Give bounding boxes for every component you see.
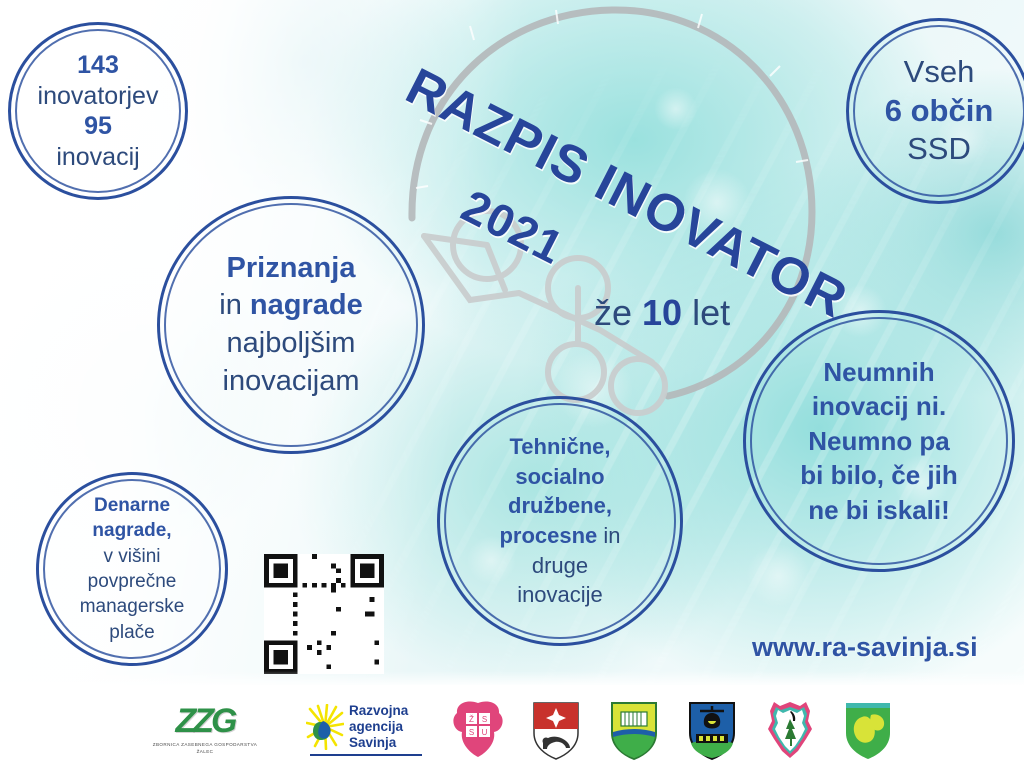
slogan-line-2: inovacij ni. — [812, 389, 946, 424]
types-line-5: druge — [532, 551, 588, 581]
prize-line-5: managerske — [80, 594, 185, 619]
awards-line-3: najboljšim — [227, 325, 356, 363]
ssd-line-1: Vseh — [904, 53, 975, 92]
zzg-logo: ZZG ZBORNICA ZASEBNEGA GOSPODARSTVA ŽALE… — [130, 704, 280, 756]
types-line-4-bold: procesne — [499, 523, 597, 548]
svg-text:S: S — [469, 728, 474, 737]
zzg-logo-mark: ZZG — [176, 704, 235, 738]
prize-line-2: nagrade, — [92, 518, 171, 543]
zzg-subtitle-line-1: ZBORNICA ZASEBNEGA GOSPODARSTVA — [153, 742, 257, 749]
anniversary-number: 10 — [642, 292, 682, 333]
ras-line-1: Razvojna — [349, 703, 408, 719]
svg-text:S: S — [482, 715, 487, 724]
sun-droplet-icon — [306, 704, 344, 750]
types-line-1: Tehnične, — [509, 432, 610, 462]
awards-line-2-regular: in — [219, 289, 250, 321]
awards-line-2: in nagrade — [219, 287, 362, 325]
prize-money-bubble: Denarne nagrade, v višini povprečne mana… — [36, 472, 228, 666]
stats-line-1: 143 — [77, 50, 119, 81]
coat-of-arms-2 — [530, 699, 582, 761]
coat-of-arms-6 — [842, 699, 894, 761]
slogan-bubble: Neumnih inovacij ni. Neumno pa bi bilo, … — [743, 310, 1015, 572]
ras-line-3: Savinja — [349, 735, 408, 751]
zzg-subtitle-line-2: ŽALEC — [153, 749, 257, 756]
stats-line-2: inovatorjev — [38, 81, 159, 112]
ras-underline — [310, 754, 422, 756]
partner-logo-strip: ZZG ZBORNICA ZASEBNEGA GOSPODARSTVA ŽALE… — [0, 685, 1024, 778]
title-anniversary: že 10 let — [594, 292, 730, 334]
slogan-line-3: Neumno pa — [808, 424, 950, 459]
website-url[interactable]: www.ra-savinja.si — [752, 632, 978, 663]
anniversary-suffix: let — [682, 292, 730, 333]
types-line-4-regular: in — [597, 523, 620, 548]
stats-line-3: 95 — [84, 111, 112, 142]
types-line-4: procesne in — [499, 521, 620, 551]
coat-of-arms-4 — [686, 699, 738, 761]
types-line-2: socialno — [515, 462, 604, 492]
municipalities-bubble: Vseh 6 občin SSD — [846, 18, 1024, 204]
razvojna-agencija-savinja-logo: Razvojna agencija Savinja — [306, 703, 426, 756]
prize-line-4: povprečne — [88, 569, 177, 594]
svg-text:Ž: Ž — [469, 715, 474, 724]
ssd-line-3: SSD — [907, 130, 971, 169]
stats-line-4: inovacij — [56, 142, 139, 173]
awards-line-4: inovacijam — [223, 363, 360, 401]
prize-line-3: v višini — [103, 544, 160, 569]
coat-of-arms-1: Ž S S U — [452, 699, 504, 761]
poster-canvas: RAZPIS INOVATOR 2021 že 10 let 143 inova… — [0, 0, 1024, 778]
prize-line-6: plače — [109, 620, 154, 645]
types-line-3: družbene, — [508, 491, 612, 521]
slogan-line-4: bi bilo, če jih — [800, 458, 957, 493]
qr-code-image — [264, 554, 384, 674]
awards-line-1: Priznanja — [227, 250, 356, 288]
slogan-line-1: Neumnih — [823, 355, 934, 390]
anniversary-prefix: že — [594, 292, 642, 333]
stats-bubble: 143 inovatorjev 95 inovacij — [8, 22, 188, 200]
svg-text:U: U — [482, 728, 488, 737]
prize-line-1: Denarne — [94, 493, 170, 518]
types-line-6: inovacije — [517, 580, 603, 610]
ssd-line-2: 6 občin — [885, 92, 994, 131]
poster-title: RAZPIS INOVATOR 2021 že 10 let — [404, 34, 804, 334]
awards-bubble: Priznanja in nagrade najboljšim inovacij… — [157, 196, 425, 454]
awards-line-2-bold: nagrade — [250, 289, 363, 321]
qr-code[interactable] — [264, 554, 384, 674]
ras-line-2: agencija — [349, 719, 408, 735]
coat-of-arms-3 — [608, 699, 660, 761]
innovation-types-bubble: Tehnične, socialno družbene, procesne in… — [437, 396, 683, 646]
coat-of-arms-5 — [764, 699, 816, 761]
slogan-line-5: ne bi iskali! — [808, 493, 950, 528]
